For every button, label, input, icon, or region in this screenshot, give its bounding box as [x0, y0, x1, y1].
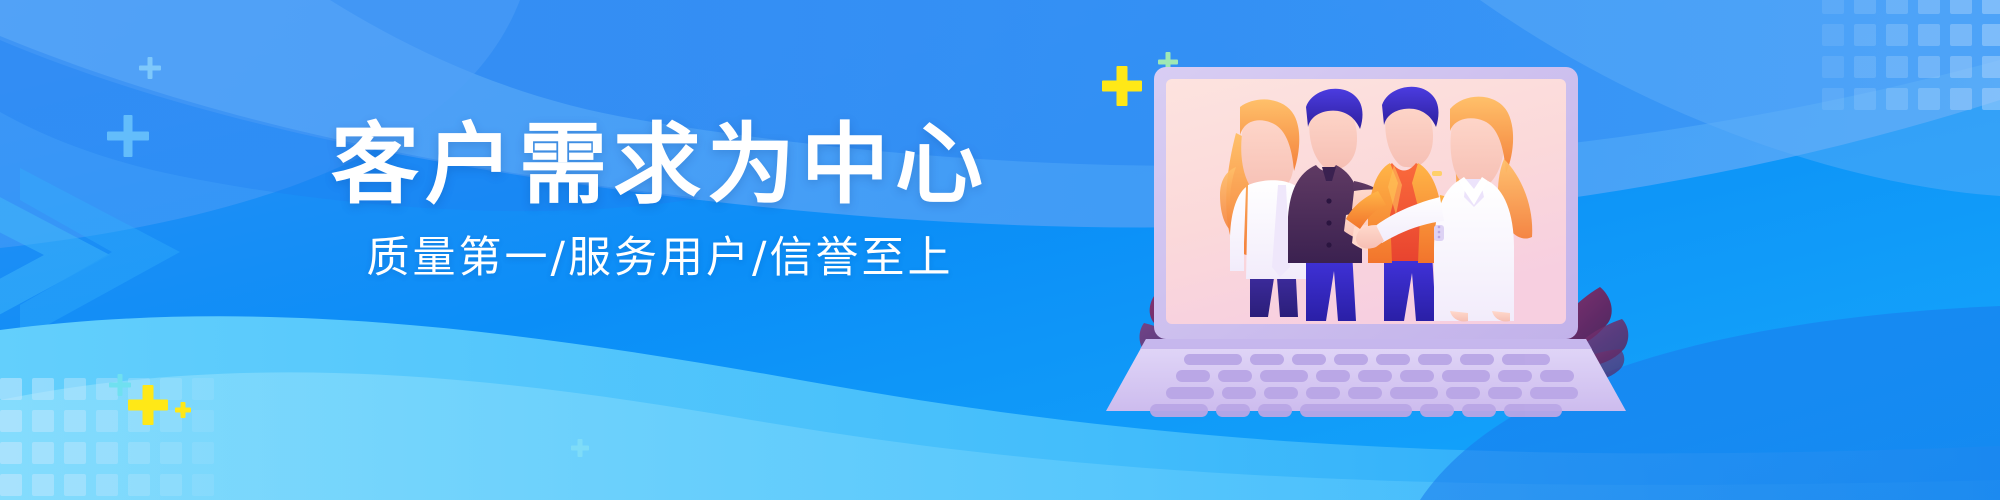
plus-mid-bottom-icon [571, 439, 589, 457]
laptop-illustration [1140, 55, 1640, 455]
plus-top-left-small-icon [139, 57, 161, 79]
page-subtitle: 质量第一/服务用户/信誉至上 [300, 233, 1020, 285]
plus-upper-left-icon [107, 115, 149, 157]
plus-bottom-left-tiny-icon [175, 402, 191, 418]
plus-bottom-left-yellow-icon [128, 385, 168, 425]
laptop-svg [1140, 55, 1640, 455]
plus-near-laptop-big-icon [1102, 66, 1142, 106]
headline-block: 客户需求为中心 质量第一/服务用户/信誉至上 [300, 118, 1020, 285]
promo-banner: 客户需求为中心 质量第一/服务用户/信誉至上 [0, 0, 2000, 500]
page-title: 客户需求为中心 [300, 118, 1020, 211]
